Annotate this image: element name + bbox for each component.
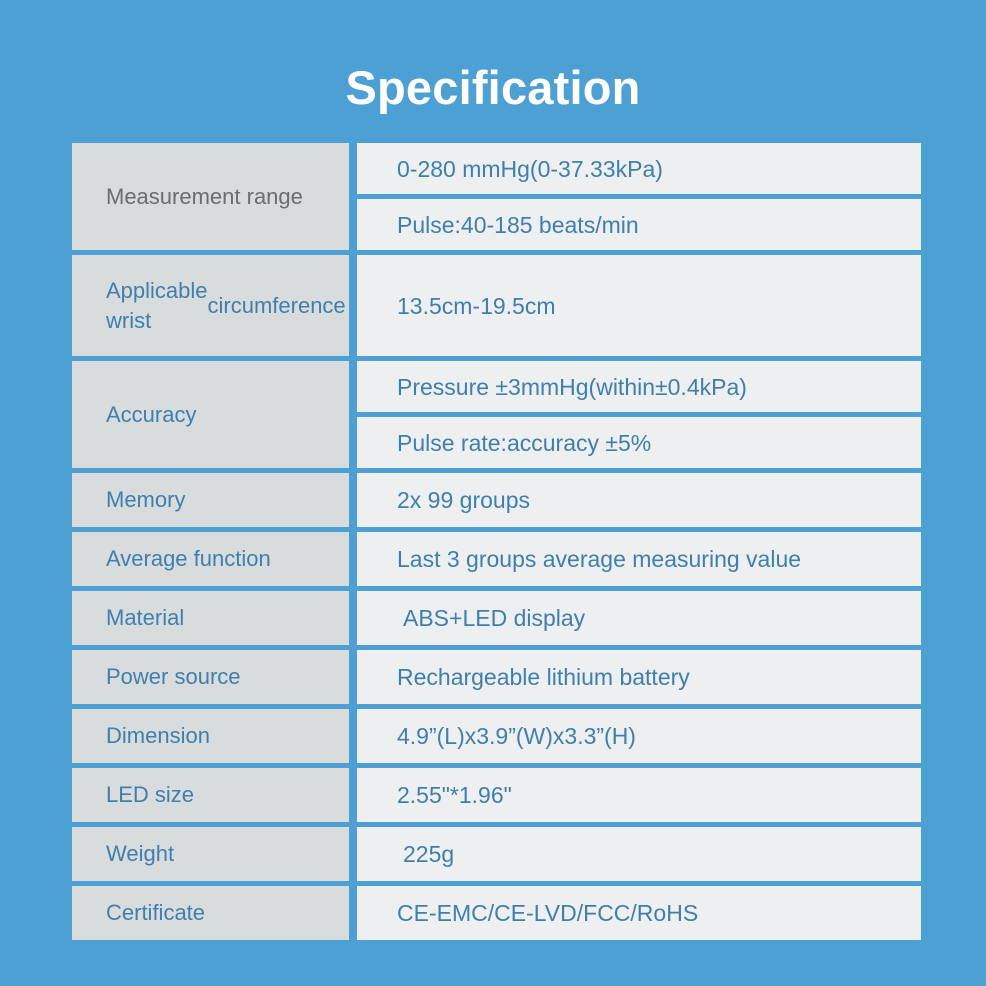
value-group: 13.5cm-19.5cm [357, 255, 921, 356]
spec-label-measurement-range: Measurement range [72, 143, 349, 250]
table-row: Applicable wrist circumference 13.5cm-19… [72, 255, 921, 356]
spec-value-led-size: 2.55"*1.96" [357, 768, 921, 822]
spec-label-led-size: LED size [72, 768, 349, 822]
table-row: Dimension 4.9”(L)x3.9”(W)x3.3”(H) [72, 709, 921, 763]
spec-value-applicable-wrist-circumference: 13.5cm-19.5cm [357, 255, 921, 356]
table-row: Accuracy Pressure ±3mmHg(within±0.4kPa) … [72, 361, 921, 468]
value-group: 2.55"*1.96" [357, 768, 921, 822]
spec-label-dimension: Dimension [72, 709, 349, 763]
spec-label-accuracy: Accuracy [72, 361, 349, 468]
table-row: LED size 2.55"*1.96" [72, 768, 921, 822]
spec-label-applicable-wrist-circumference: Applicable wrist circumference [72, 255, 349, 356]
value-group: Last 3 groups average measuring value [357, 532, 921, 586]
value-group: CE-EMC/CE-LVD/FCC/RoHS [357, 886, 921, 940]
spec-value-certificate: CE-EMC/CE-LVD/FCC/RoHS [357, 886, 921, 940]
value-group: Pressure ±3mmHg(within±0.4kPa) Pulse rat… [357, 361, 921, 468]
spec-value-memory: 2x 99 groups [357, 473, 921, 527]
table-row: Power source Rechargeable lithium batter… [72, 650, 921, 704]
table-row: Average function Last 3 groups average m… [72, 532, 921, 586]
spec-label-line-2: circumference [208, 291, 346, 321]
value-group: ABS+LED display [357, 591, 921, 645]
table-row: Certificate CE-EMC/CE-LVD/FCC/RoHS [72, 886, 921, 940]
spec-value-dimension: 4.9”(L)x3.9”(W)x3.3”(H) [357, 709, 921, 763]
spec-value-accuracy-pulse-rate: Pulse rate:accuracy ±5% [357, 417, 921, 468]
spec-value-measurement-range-pressure: 0-280 mmHg(0-37.33kPa) [357, 143, 921, 194]
spec-label-material: Material [72, 591, 349, 645]
spec-label-memory: Memory [72, 473, 349, 527]
spec-label-power-source: Power source [72, 650, 349, 704]
value-group: 4.9”(L)x3.9”(W)x3.3”(H) [357, 709, 921, 763]
spec-value-average-function: Last 3 groups average measuring value [357, 532, 921, 586]
spec-value-material: ABS+LED display [357, 591, 921, 645]
spec-value-accuracy-pressure: Pressure ±3mmHg(within±0.4kPa) [357, 361, 921, 412]
spec-label-certificate: Certificate [72, 886, 349, 940]
spec-value-measurement-range-pulse: Pulse:40-185 beats/min [357, 199, 921, 250]
spec-value-power-source: Rechargeable lithium battery [357, 650, 921, 704]
specification-page: Specification Measurement range 0-280 mm… [0, 0, 986, 986]
spec-label-weight: Weight [72, 827, 349, 881]
page-title: Specification [0, 55, 986, 121]
value-group: 225g [357, 827, 921, 881]
specification-table: Measurement range 0-280 mmHg(0-37.33kPa)… [72, 143, 921, 897]
spec-value-weight: 225g [357, 827, 921, 881]
spec-label-average-function: Average function [72, 532, 349, 586]
table-row: Measurement range 0-280 mmHg(0-37.33kPa)… [72, 143, 921, 250]
value-group: 2x 99 groups [357, 473, 921, 527]
spec-label-line-1: Applicable wrist [106, 276, 208, 336]
table-row: Material ABS+LED display [72, 591, 921, 645]
table-row: Memory 2x 99 groups [72, 473, 921, 527]
value-group: 0-280 mmHg(0-37.33kPa) Pulse:40-185 beat… [357, 143, 921, 250]
table-row: Weight 225g [72, 827, 921, 881]
value-group: Rechargeable lithium battery [357, 650, 921, 704]
